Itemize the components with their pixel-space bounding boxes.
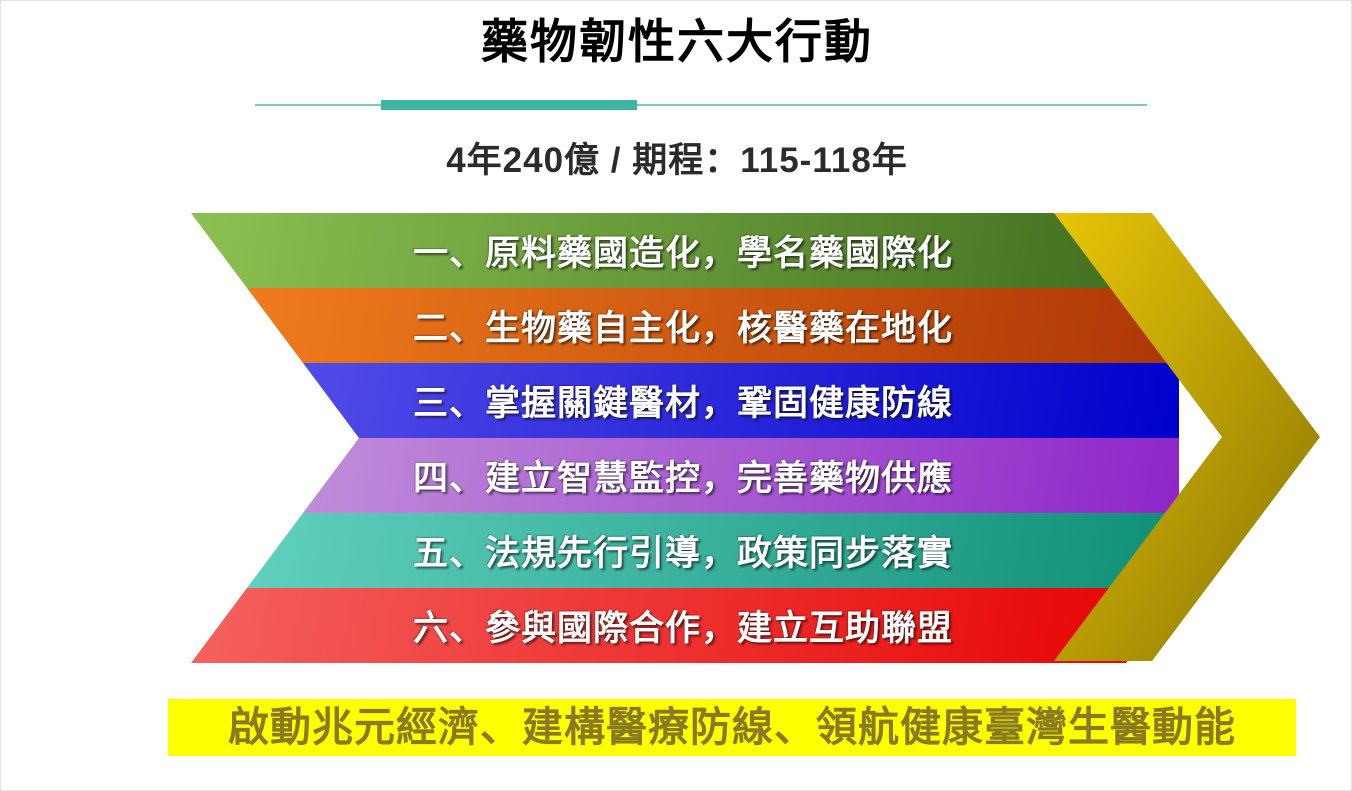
page-title: 藥物韌性六大行動 <box>1 15 1352 69</box>
divider-thick-line <box>381 100 637 110</box>
page-subtitle: 4年240億 / 期程：115-118年 <box>1 132 1352 183</box>
action-bar-3-label: 三、掌握關鍵醫材，鞏固健康防線 <box>413 375 953 426</box>
title-divider <box>255 99 1147 111</box>
action-bar-4-label: 四、建立智慧監控，完善藥物供應 <box>413 450 953 501</box>
action-bar-1-label: 一、原料藥國造化，學名藥國際化 <box>413 225 953 276</box>
action-bar-2[interactable]: 二、生物藥自主化，核醫藥在地化 <box>187 288 1179 363</box>
action-bar-2-label: 二、生物藥自主化，核醫藥在地化 <box>413 300 953 351</box>
summary-banner: 啟動兆元經濟、建構醫療防線、領航健康臺灣生醫動能 <box>168 699 1296 756</box>
action-bar-6[interactable]: 六、參與國際合作，建立互助聯盟 <box>187 588 1179 663</box>
summary-banner-text: 啟動兆元經濟、建構醫療防線、領航健康臺灣生醫動能 <box>228 707 1236 748</box>
action-chevron-stack: 一、原料藥國造化，學名藥國際化 二、生物藥自主化，核醫藥在地化 三、掌握關鍵醫材… <box>187 213 1179 663</box>
action-bar-1[interactable]: 一、原料藥國造化，學名藥國際化 <box>187 213 1179 288</box>
action-bar-3[interactable]: 三、掌握關鍵醫材，鞏固健康防線 <box>187 363 1179 438</box>
slide-canvas: 藥物韌性六大行動 4年240億 / 期程：115-118年 一、原料藥國造化，學… <box>0 0 1352 791</box>
action-bar-6-label: 六、參與國際合作，建立互助聯盟 <box>413 600 953 651</box>
action-bar-5[interactable]: 五、法規先行引導，政策同步落實 <box>187 513 1179 588</box>
action-bar-5-label: 五、法規先行引導，政策同步落實 <box>413 525 953 576</box>
action-bar-4[interactable]: 四、建立智慧監控，完善藥物供應 <box>187 438 1179 513</box>
